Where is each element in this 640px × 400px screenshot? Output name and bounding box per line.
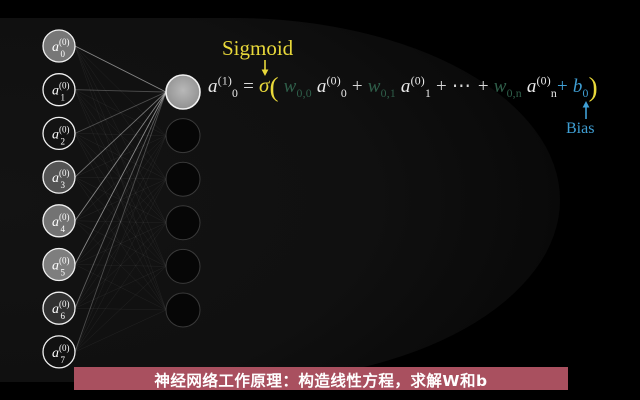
network-edges <box>75 46 166 352</box>
formula-weight-0: w0,0 <box>284 76 312 97</box>
hidden-neuron <box>166 293 200 327</box>
formula-sigma: σ <box>259 73 270 97</box>
bias-label: Bias <box>566 120 594 138</box>
letterbox-bottom <box>0 390 640 400</box>
formula-open-paren: ( <box>270 72 279 102</box>
hidden-neuron <box>166 162 200 196</box>
formula-op-0: + <box>352 76 363 97</box>
letterbox-top <box>0 0 640 18</box>
network-edge <box>75 92 166 177</box>
formula-bias-term: b0 <box>573 76 589 97</box>
network-edge <box>75 90 166 92</box>
sigmoid-label: Sigmoid <box>222 36 293 61</box>
network-edge <box>75 92 166 265</box>
hidden-neuron <box>166 206 200 240</box>
network-edge <box>75 136 166 352</box>
neural-network-diagram: a(0)0a(0)1a(0)2a(0)3a(0)4a(0)5a(0)6a(0)7 <box>0 0 640 400</box>
network-edge <box>75 92 166 133</box>
up-arrow-icon <box>580 101 592 119</box>
network-edge <box>75 310 166 352</box>
formula-weight-1: w0,1 <box>368 76 396 97</box>
formula-equals: = <box>243 76 254 97</box>
network-edge <box>75 179 166 352</box>
formula-lhs: a(1)0 <box>208 76 238 97</box>
slide-canvas: a(0)0a(0)1a(0)2a(0)3a(0)4a(0)5a(0)6a(0)7… <box>0 0 640 400</box>
hidden-neuron <box>166 75 200 109</box>
network-edge <box>75 92 166 352</box>
formula-close-paren: ) <box>589 72 598 102</box>
formula-activation-0: a(0)0 <box>317 76 347 97</box>
formula-weight-n: w0,n <box>494 76 522 97</box>
hidden-neuron <box>166 249 200 283</box>
input-layer-nodes: a(0)0a(0)1a(0)2a(0)3a(0)4a(0)5a(0)6a(0)7 <box>43 30 75 368</box>
network-edge <box>75 223 166 352</box>
network-edge <box>75 92 166 221</box>
network-edge <box>75 92 166 308</box>
formula-op-1: + <box>436 76 447 97</box>
network-edge <box>75 266 166 352</box>
hidden-neuron <box>166 119 200 153</box>
formula-ellipsis: ⋯ <box>452 76 473 97</box>
formula-op-2: + <box>478 76 489 97</box>
activation-formula: a(1)0 = σ( w0,0 a(0)0 + w0,1 a(0)1 + ⋯ +… <box>208 72 598 103</box>
caption-bar: 神经网络工作原理：构造线性方程，求解W和b <box>74 367 568 392</box>
formula-op-bias: + <box>557 76 568 97</box>
formula-activation-1: a(0)1 <box>401 76 431 97</box>
formula-activation-n: a(0)n <box>527 76 557 97</box>
caption-text: 神经网络工作原理：构造线性方程，求解W和b <box>154 369 487 391</box>
hidden-layer-nodes <box>166 75 200 327</box>
